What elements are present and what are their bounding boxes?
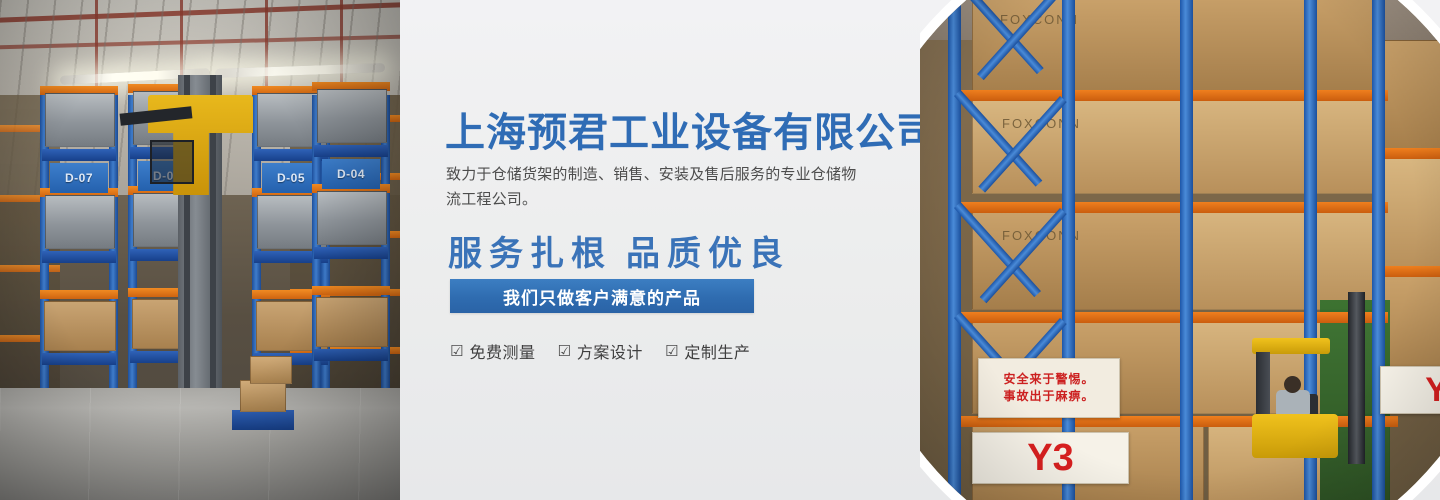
rack-upright — [948, 0, 961, 500]
aisle-code-sign: Y3 — [972, 432, 1129, 484]
feature-item-custom-production: ☑ 定制生产 — [665, 339, 750, 363]
rack-upright — [1180, 0, 1193, 500]
safety-sign: 安全来于警惕。 事故出于麻痹。 — [978, 358, 1120, 418]
hero-banner: D-07 D-06 D- — [0, 0, 1440, 500]
circular-photo-mask: FOXCONN FOXCONN FOXCONN — [920, 0, 1440, 500]
check-box-icon: ☑ — [450, 344, 463, 359]
operator-head — [1284, 376, 1301, 393]
cta-button[interactable]: 我们只做客户满意的产品 — [450, 279, 754, 313]
safety-sign-line-1: 安全来于警惕。 — [1003, 371, 1094, 388]
feature-label: 免费测量 — [469, 339, 535, 363]
slogan-part-2: 品质优良 — [626, 234, 790, 274]
feature-label: 方案设计 — [577, 339, 643, 363]
left-warehouse-photo: D-07 D-06 D- — [0, 0, 400, 500]
rack-beam — [948, 90, 1388, 101]
rack-label: D-04 — [322, 159, 380, 189]
warehouse-floor — [0, 388, 400, 500]
banner-text-block: 上海预君工业设备有限公司 致力于仓储货架的制造、销售、安装及售后服务的专业仓储物… — [400, 0, 1000, 500]
cardboard-box — [250, 356, 292, 384]
check-box-icon: ☑ — [665, 344, 678, 359]
company-slogan: 服务扎根品质优良 — [448, 226, 790, 275]
feature-item-scheme-design: ☑ 方案设计 — [557, 339, 642, 363]
rack-upright — [1062, 0, 1075, 500]
feature-list: ☑ 免费测量 ☑ 方案设计 ☑ 定制生产 — [450, 339, 750, 363]
forklift-mast — [1348, 292, 1365, 464]
pallet-load — [1380, 158, 1440, 270]
pallet-load — [1380, 40, 1440, 152]
rack-beam — [948, 202, 1388, 213]
blue-pallet — [232, 410, 294, 430]
check-box-icon: ☑ — [557, 344, 570, 359]
pallet-load — [1188, 96, 1380, 194]
aisle-code-sign-secondary: Y3 — [1380, 366, 1440, 414]
forklift-post — [1256, 352, 1270, 418]
rack-beam — [948, 312, 1388, 323]
slogan-part-1: 服务扎根 — [448, 234, 612, 274]
company-headline: 上海预君工业设备有限公司 — [445, 100, 937, 158]
rack-upright — [1372, 0, 1385, 500]
company-subtitle: 致力于仓储货架的制造、销售、安装及售后服务的专业仓储物流工程公司。 — [446, 162, 866, 212]
hanger-rod — [265, 0, 268, 90]
right-warehouse-photo: FOXCONN FOXCONN FOXCONN — [920, 0, 1440, 500]
cardboard-box — [240, 380, 286, 412]
safety-sign-line-2: 事故出于麻痹。 — [1003, 388, 1094, 405]
feature-item-free-measure: ☑ 免费测量 — [450, 339, 535, 363]
photo-content: FOXCONN FOXCONN FOXCONN — [920, 0, 1440, 500]
rack-label: D-07 — [50, 163, 108, 193]
feature-label: 定制生产 — [684, 339, 750, 363]
operator-cab — [150, 140, 194, 184]
pallet-load — [1188, 0, 1380, 92]
hanger-rod — [180, 0, 183, 78]
forklift-body — [1252, 414, 1338, 458]
